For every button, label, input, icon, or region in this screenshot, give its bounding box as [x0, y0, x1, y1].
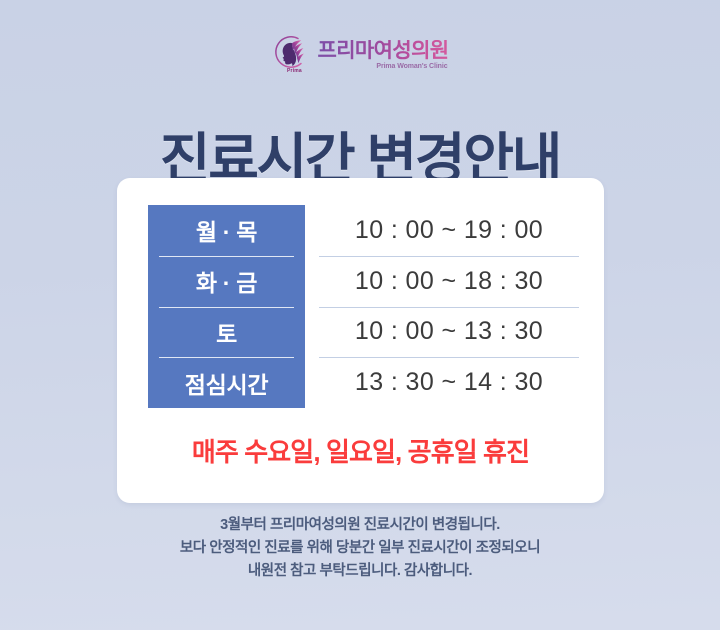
- brand-header: Prima 프리마여성의원 Prima Woman's Clinic: [0, 33, 720, 75]
- woman-silhouette-logo-icon: Prima: [271, 33, 311, 75]
- table-row: 월 · 목: [148, 205, 305, 256]
- schedule-day-column: 월 · 목 화 · 금 토 점심시간: [148, 205, 305, 408]
- table-row: 10 : 00 ~ 18 : 30: [319, 256, 579, 307]
- time-value: 10 : 00 ~ 18 : 30: [355, 267, 543, 296]
- footer-note: 3월부터 프리마여성의원 진료시간이 변경됩니다. 보다 안정적인 진료를 위해…: [0, 514, 720, 583]
- brand-lockup: Prima 프리마여성의원 Prima Woman's Clinic: [271, 33, 448, 75]
- time-value: 10 : 00 ~ 13 : 30: [355, 317, 543, 346]
- footer-line: 3월부터 프리마여성의원 진료시간이 변경됩니다.: [0, 514, 720, 537]
- brand-text: 프리마여성의원 Prima Woman's Clinic: [317, 38, 448, 71]
- notice-page: Prima 프리마여성의원 Prima Woman's Clinic 진료시간 …: [0, 0, 720, 630]
- table-row: 10 : 00 ~ 19 : 00: [319, 205, 579, 256]
- logo-wordmark: Prima: [277, 69, 311, 74]
- brand-name-english: Prima Woman's Clinic: [376, 63, 448, 70]
- footer-line: 내원전 참고 부탁드립니다. 감사합니다.: [0, 560, 720, 583]
- table-row: 10 : 00 ~ 13 : 30: [319, 307, 579, 358]
- schedule-table: 월 · 목 화 · 금 토 점심시간 10 : 00 ~ 19 : 00 10 …: [148, 205, 579, 408]
- table-row: 13 : 30 ~ 14 : 30: [319, 357, 579, 408]
- table-row: 점심시간: [148, 357, 305, 408]
- table-row: 화 · 금: [148, 256, 305, 307]
- brand-name-korean: 프리마여성의원: [317, 40, 448, 63]
- footer-line: 보다 안정적인 진료를 위해 당분간 일부 진료시간이 조정되오니: [0, 537, 720, 560]
- day-label: 점심시간: [185, 366, 268, 400]
- time-value: 10 : 00 ~ 19 : 00: [355, 216, 543, 245]
- day-label: 화 · 금: [196, 264, 257, 298]
- table-row: 토: [148, 307, 305, 358]
- day-label: 월 · 목: [196, 213, 257, 247]
- schedule-time-column: 10 : 00 ~ 19 : 00 10 : 00 ~ 18 : 30 10 :…: [305, 205, 579, 408]
- time-value: 13 : 30 ~ 14 : 30: [355, 368, 543, 397]
- schedule-card: 월 · 목 화 · 금 토 점심시간 10 : 00 ~ 19 : 00 10 …: [117, 178, 604, 503]
- closed-days-notice: 매주 수요일, 일요일, 공휴일 휴진: [117, 437, 604, 468]
- day-label: 토: [216, 315, 237, 349]
